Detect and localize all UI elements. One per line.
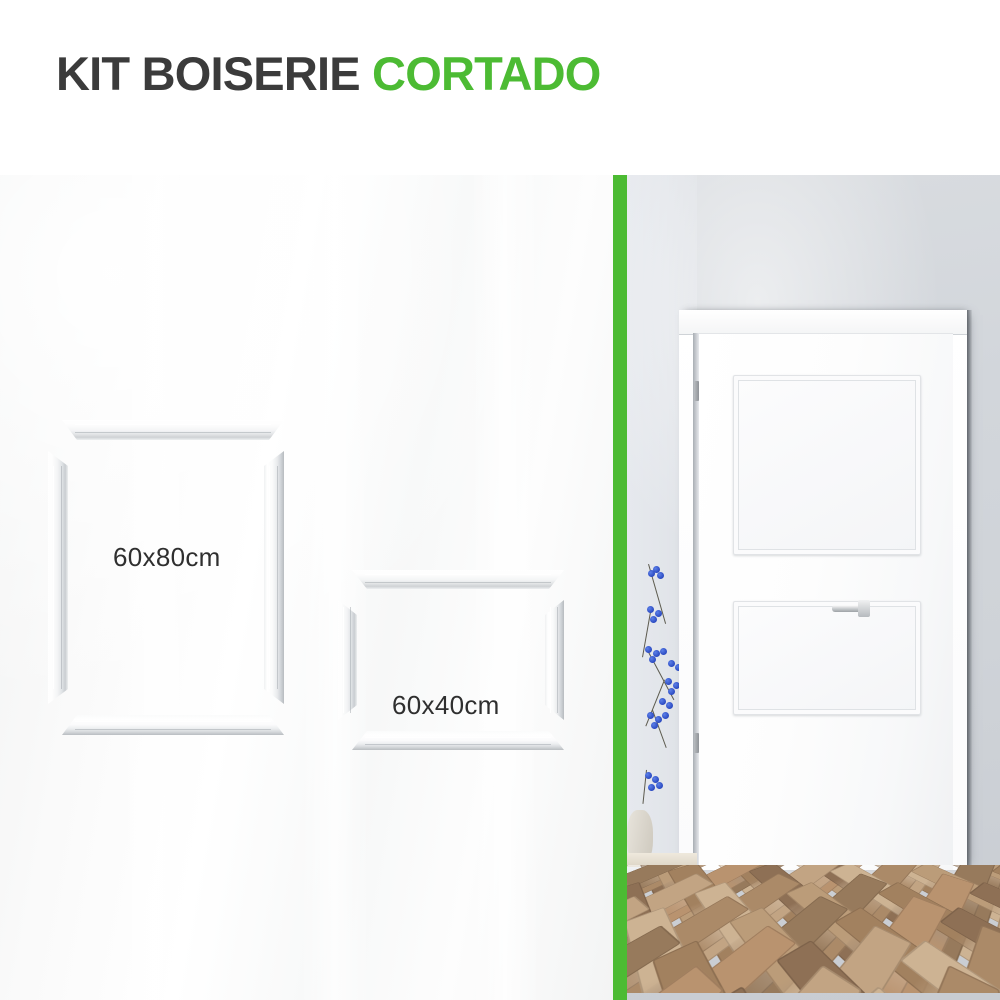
herringbone-parquet-floor <box>627 865 1000 993</box>
flower-bloom <box>662 712 669 719</box>
flower-bloom <box>660 648 667 655</box>
flower-bloom <box>649 656 656 663</box>
flower-bloom <box>665 678 672 685</box>
header-bar: KIT BOISERIE CORTADO <box>0 0 1000 175</box>
flower-bloom <box>648 784 655 791</box>
door-panel-upper <box>733 375 921 555</box>
page-title-primary: KIT BOISERIE <box>56 47 360 100</box>
flower-bloom <box>647 712 654 719</box>
flower-bloom <box>668 660 675 667</box>
door-casing-header <box>679 310 967 335</box>
door-hinge-lower <box>694 733 699 753</box>
flower-bloom <box>656 782 663 789</box>
flower-bloom <box>645 646 652 653</box>
white-panelled-door[interactable] <box>699 333 953 870</box>
moulding-bottom[interactable] <box>352 731 564 750</box>
content-panel: 60x80cm <box>0 175 1000 1000</box>
page-title: KIT BOISERIE CORTADO <box>56 50 601 97</box>
handle-rose <box>858 600 870 617</box>
moulding-left[interactable] <box>338 600 357 720</box>
moulding-right[interactable] <box>264 451 284 704</box>
flower-bloom <box>651 722 658 729</box>
flower-bloom <box>668 688 675 695</box>
casing-shadow <box>967 310 972 870</box>
moulding-top[interactable] <box>62 420 284 440</box>
door-panel-lower <box>733 601 921 715</box>
door-reveal-gap <box>693 333 699 870</box>
door-hinge-upper <box>694 381 699 401</box>
page-title-accent: CORTADO <box>372 47 601 100</box>
flower-bloom <box>659 698 666 705</box>
boiserie-kit-large[interactable] <box>48 420 298 735</box>
flower-bloom <box>666 702 673 709</box>
flower-bloom <box>647 606 654 613</box>
flower-bloom <box>648 570 655 577</box>
room-photo-pane <box>627 175 1000 1000</box>
flower-bloom <box>650 616 657 623</box>
product-image-canvas: KIT BOISERIE CORTADO 60x80cm <box>0 0 1000 1000</box>
flower-bloom <box>657 572 664 579</box>
moulding-left[interactable] <box>48 451 68 704</box>
flower-bloom <box>645 772 652 779</box>
green-divider-bar <box>613 175 627 1000</box>
boiserie-kit-small[interactable] <box>338 570 578 750</box>
door-handle[interactable] <box>832 603 870 614</box>
moulding-right[interactable] <box>545 600 564 720</box>
moulding-bottom[interactable] <box>62 715 284 735</box>
flower-bloom <box>655 610 662 617</box>
product-display-pane: 60x80cm <box>0 175 613 1000</box>
moulding-top[interactable] <box>352 570 564 589</box>
